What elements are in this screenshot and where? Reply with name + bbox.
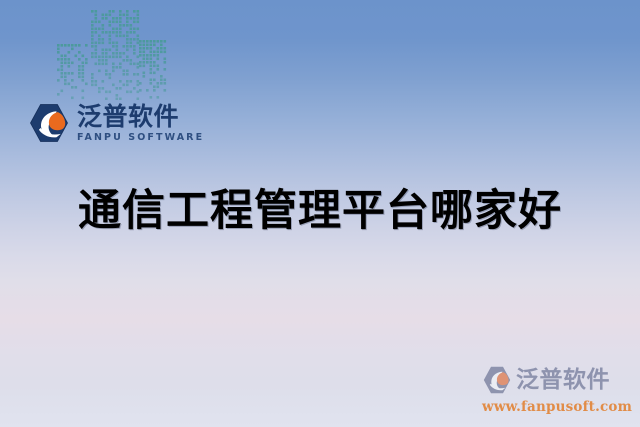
fanpu-hexagon-logo-icon: [28, 102, 70, 144]
fanpu-hexagon-logo-icon: [482, 365, 512, 395]
brand-name-cn: 泛普软件: [77, 104, 204, 129]
pixel-skyline-icon: [57, 4, 167, 100]
watermark: 泛普软件 www.fanpusoft.com: [482, 363, 630, 419]
brand-name-en: FANPU SOFTWARE: [77, 133, 204, 143]
page-title: 通信工程管理平台哪家好: [0, 186, 640, 237]
brand-wordmark: 泛普软件 FANPU SOFTWARE: [77, 104, 204, 143]
watermark-name-cn: 泛普软件: [516, 369, 610, 392]
banner: 泛普软件 FANPU SOFTWARE 通信工程管理平台哪家好 泛普软件 www…: [0, 0, 640, 427]
watermark-url: www.fanpusoft.com: [482, 399, 630, 415]
brand-logo: 泛普软件 FANPU SOFTWARE: [28, 96, 188, 150]
watermark-logo-row: 泛普软件: [482, 363, 630, 397]
